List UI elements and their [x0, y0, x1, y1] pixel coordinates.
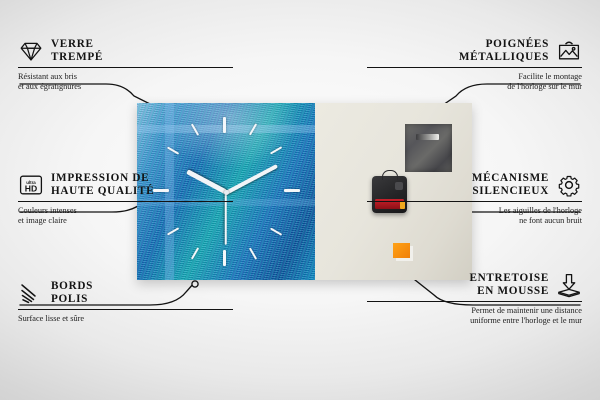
feature-title-line2: MÉTALLIQUES [459, 51, 549, 64]
polished-edges-icon [18, 280, 44, 306]
feature-title-line2: SILENCIEUX [472, 185, 549, 198]
infographic-canvas: VERRE TREMPÉ Résistant aux bris et aux é… [0, 0, 600, 400]
feature-entretoise-en-mousse: ENTRETOISE EN MOUSSE Permet de maintenir… [367, 272, 582, 326]
hanger-keyhole-slot [416, 134, 439, 140]
feature-desc-line1: Les aiguilles de l'horloge [367, 206, 582, 216]
ultra-hd-badge-icon: ultra HD [18, 172, 44, 198]
feature-desc-line2: et aux égratignures [18, 82, 233, 92]
diamond-icon [18, 38, 44, 64]
feature-title-line2: EN MOUSSE [469, 285, 549, 298]
feature-divider [18, 201, 233, 202]
clock-tick [223, 117, 226, 133]
feature-desc-line2: de l'horloge sur le mur [367, 82, 582, 92]
feature-divider [367, 301, 582, 302]
feature-desc-line1: Résistant aux bris [18, 72, 233, 82]
svg-text:HD: HD [25, 183, 37, 193]
clock-tick [284, 189, 300, 192]
feature-title-line1: ENTRETOISE [469, 272, 549, 285]
feature-title-line1: VERRE [51, 38, 103, 51]
feature-title-line2: HAUTE QUALITÉ [51, 185, 154, 198]
feature-desc-line2: et image claire [18, 216, 233, 226]
feature-verre-trempe: VERRE TREMPÉ Résistant aux bris et aux é… [18, 38, 233, 92]
orange-foam-spacer [393, 243, 410, 258]
metal-hanger-plate [405, 124, 452, 172]
feature-title-line1: IMPRESSION DE [51, 172, 154, 185]
foam-spacer-arrow-icon [556, 272, 582, 298]
wall-hanger-frame-icon [556, 38, 582, 64]
feature-divider [18, 67, 233, 68]
feature-desc-line2: uniforme entre l'horloge et le mur [367, 316, 582, 326]
feature-desc-line1: Facilite le montage [367, 72, 582, 82]
feature-desc-line1: Couleurs intenses [18, 206, 233, 216]
clock-tick [223, 250, 226, 266]
feature-title-line2: POLIS [51, 293, 93, 306]
gear-icon [556, 172, 582, 198]
feature-title-line1: MÉCANISME [472, 172, 549, 185]
feature-desc-line2: ne font aucun bruit [367, 216, 582, 226]
feature-title-line1: BORDS [51, 280, 93, 293]
feature-impression-haute-qualite: ultra HD IMPRESSION DE HAUTE QUALITÉ Cou… [18, 172, 233, 226]
feature-title-line1: POIGNÉES [459, 38, 549, 51]
feature-poignees-metalliques: POIGNÉES MÉTALLIQUES Facilite le montage… [367, 38, 582, 92]
feature-divider [367, 201, 582, 202]
feature-bords-polis: BORDS POLIS Surface lisse et sûre [18, 280, 233, 324]
feature-title-line2: TREMPÉ [51, 51, 103, 64]
feature-desc-line1: Permet de maintenir une distance [367, 306, 582, 316]
feature-mecanisme-silencieux: MÉCANISME SILENCIEUX Les aiguilles de l'… [367, 172, 582, 226]
feature-divider [367, 67, 582, 68]
feature-desc-line1: Surface lisse et sûre [18, 314, 233, 324]
feature-divider [18, 309, 233, 310]
